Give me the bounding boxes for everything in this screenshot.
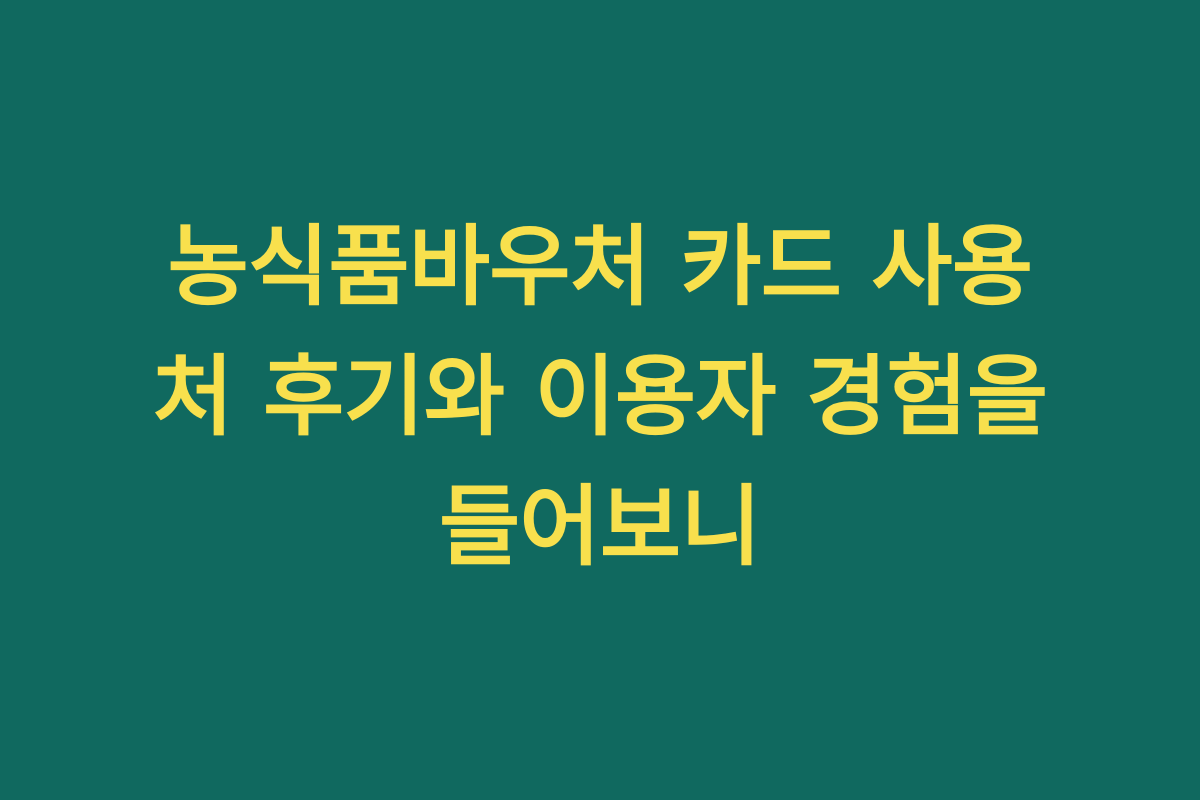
title-block: 농식품바우처 카드 사용 처 후기와 이용자 경험을 들어보니: [85, 202, 1115, 598]
page-title: 농식품바우처 카드 사용 처 후기와 이용자 경험을 들어보니: [85, 202, 1115, 592]
thumbnail-card: 농식품바우처 카드 사용 처 후기와 이용자 경험을 들어보니: [0, 0, 1200, 800]
